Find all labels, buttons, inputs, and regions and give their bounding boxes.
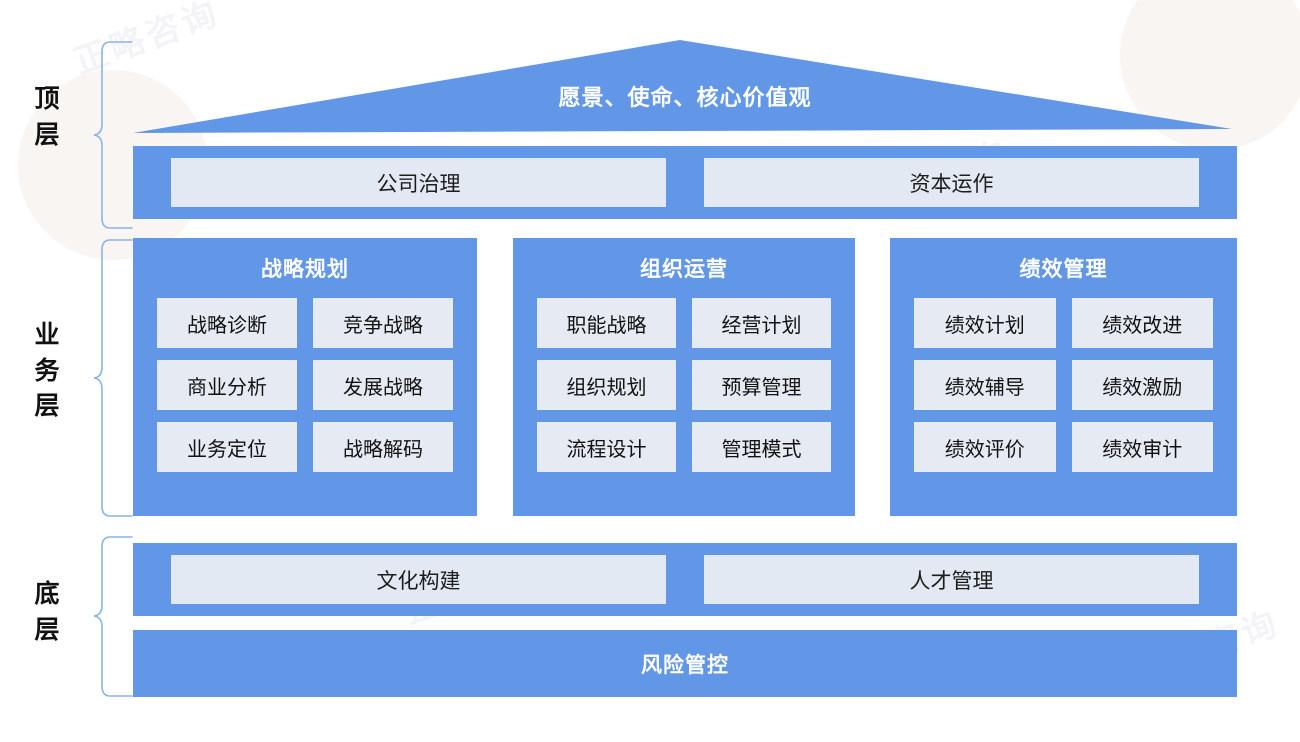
biz-cell[interactable]: 业务定位 [157, 422, 297, 472]
risk-control-banner[interactable]: 风险管控 [133, 630, 1237, 697]
biz-cell[interactable]: 经营计划 [692, 298, 831, 348]
biz-panel-organization: 组织运营 职能战略 经营计划 组织规划 预算管理 流程设计 管理模式 [513, 238, 855, 516]
biz-cell[interactable]: 绩效辅导 [914, 360, 1056, 410]
biz-cell[interactable]: 流程设计 [537, 422, 676, 472]
brace-bottom [76, 535, 136, 698]
biz-panel-title: 战略规划 [133, 252, 477, 288]
biz-cell[interactable]: 绩效审计 [1072, 422, 1214, 472]
roof-label: 愿景、使命、核心价值观 [133, 40, 1237, 133]
bottom-box-talent[interactable]: 人才管理 [704, 555, 1199, 604]
biz-cell[interactable]: 商业分析 [157, 360, 297, 410]
biz-cell[interactable]: 管理模式 [692, 422, 831, 472]
biz-cell[interactable]: 绩效评价 [914, 422, 1056, 472]
biz-cell[interactable]: 预算管理 [692, 360, 831, 410]
biz-cell[interactable]: 组织规划 [537, 360, 676, 410]
biz-panel-strategy: 战略规划 战略诊断 竞争战略 商业分析 发展战略 业务定位 战略解码 [133, 238, 477, 516]
top-box-capital[interactable]: 资本运作 [704, 158, 1199, 207]
layer-label-bottom: 底层 [24, 577, 70, 648]
biz-cell[interactable]: 战略诊断 [157, 298, 297, 348]
biz-cell[interactable]: 发展战略 [313, 360, 453, 410]
top-box-governance[interactable]: 公司治理 [171, 158, 666, 207]
biz-panel-performance: 绩效管理 绩效计划 绩效改进 绩效辅导 绩效激励 绩效评价 绩效审计 [890, 238, 1237, 516]
brace-top [76, 40, 136, 230]
biz-cell[interactable]: 战略解码 [313, 422, 453, 472]
biz-cell[interactable]: 绩效计划 [914, 298, 1056, 348]
brace-business [76, 238, 136, 518]
layer-label-business: 业务层 [24, 318, 70, 425]
diagram-canvas: 正略咨询 正略咨询 正略咨询 正略咨询 正略 顶层 业务层 底层 愿景、使命、核… [0, 0, 1300, 742]
top-layer-band: 公司治理 资本运作 [133, 146, 1237, 219]
biz-panel-title: 绩效管理 [890, 252, 1237, 288]
layer-label-top: 顶层 [24, 82, 70, 153]
bottom-layer-band: 文化构建 人才管理 [133, 543, 1237, 616]
roof-triangle: 愿景、使命、核心价值观 [133, 40, 1237, 133]
bottom-box-culture[interactable]: 文化构建 [171, 555, 666, 604]
biz-cell[interactable]: 绩效激励 [1072, 360, 1214, 410]
biz-cell[interactable]: 职能战略 [537, 298, 676, 348]
biz-cell[interactable]: 绩效改进 [1072, 298, 1214, 348]
biz-panel-title: 组织运营 [513, 252, 855, 288]
biz-cell[interactable]: 竞争战略 [313, 298, 453, 348]
